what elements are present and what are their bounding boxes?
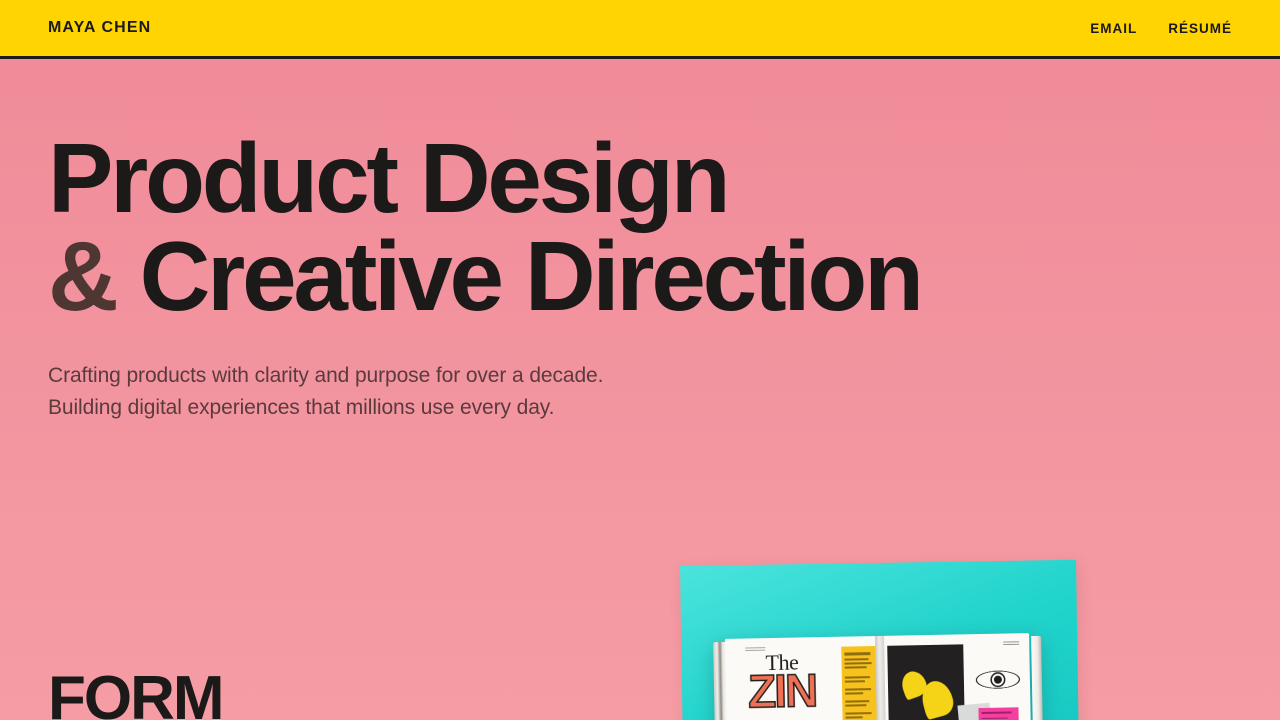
nav-link-email[interactable]: EMAIL bbox=[1090, 21, 1137, 36]
hero-section: Product Design & Creative Direction Craf… bbox=[48, 130, 1148, 425]
atom-illustration-icon bbox=[975, 657, 1020, 702]
magazine-page-left: The ZIN bbox=[725, 636, 881, 720]
brand-logo[interactable]: MAYA CHEN bbox=[48, 19, 151, 37]
magazine-page-right bbox=[879, 633, 1031, 720]
zine-photo-card[interactable]: The ZIN bbox=[672, 560, 1092, 720]
open-magazine: The ZIN bbox=[711, 633, 1043, 720]
hero-title-line-2: & Creative Direction bbox=[48, 228, 1148, 324]
hero-subtitle: Crafting products with clarity and purpo… bbox=[48, 360, 1148, 425]
yellow-sidebar-column bbox=[841, 646, 877, 720]
section-heading-form: FORM bbox=[48, 668, 223, 720]
book-page-edges-right bbox=[1031, 636, 1043, 720]
hero-title-line-2-text: Creative Direction bbox=[140, 221, 921, 331]
page-number-mark bbox=[1003, 641, 1019, 645]
page-root: MAYA CHEN EMAIL RÉSUMÉ Product Design & … bbox=[0, 0, 1280, 720]
black-artwork-panel bbox=[887, 644, 965, 720]
page-masthead-mark bbox=[745, 647, 765, 652]
pink-sticky-note bbox=[978, 707, 1018, 720]
main-nav: EMAIL RÉSUMÉ bbox=[1090, 21, 1232, 36]
site-header: MAYA CHEN EMAIL RÉSUMÉ bbox=[0, 0, 1280, 59]
hero-title-line-1: Product Design bbox=[48, 130, 1148, 226]
page-title: Product Design & Creative Direction bbox=[48, 130, 1148, 324]
hero-subtitle-line-1: Crafting products with clarity and purpo… bbox=[48, 360, 1148, 392]
hero-ampersand: & bbox=[48, 221, 116, 331]
nav-link-resume[interactable]: RÉSUMÉ bbox=[1168, 21, 1232, 36]
hero-subtitle-line-2: Building digital experiences that millio… bbox=[48, 392, 1148, 424]
magazine-cover-title: ZIN bbox=[748, 667, 817, 714]
